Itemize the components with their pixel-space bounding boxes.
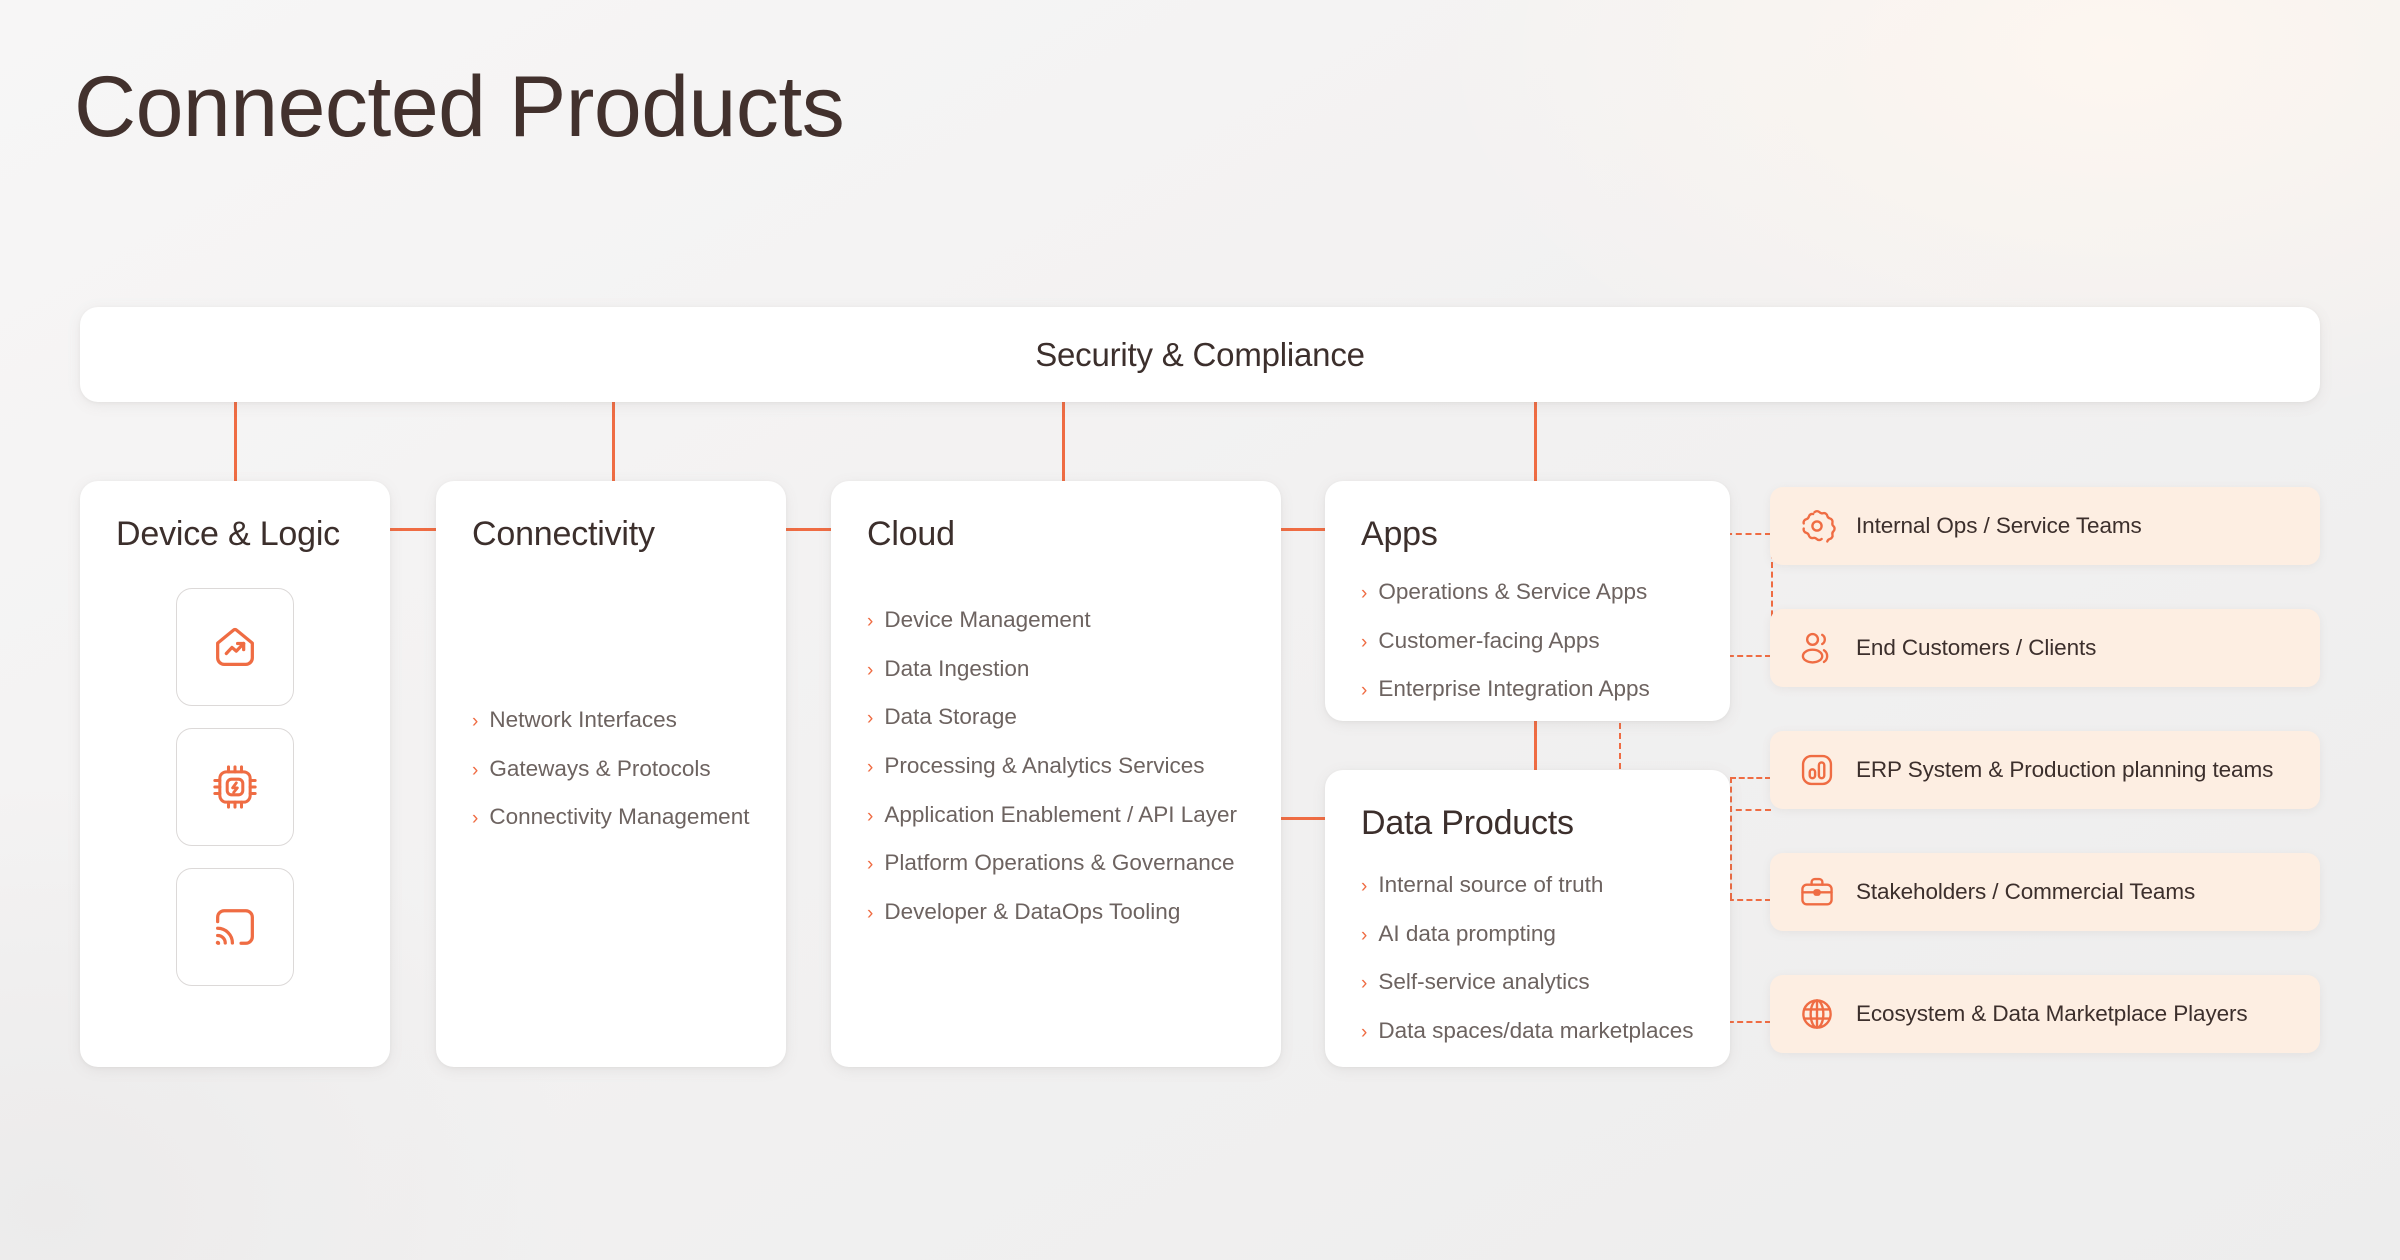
chevron-right-icon: ›: [472, 712, 478, 731]
globe-icon: [1798, 995, 1836, 1033]
list-item[interactable]: › Platform Operations & Governance: [867, 847, 1245, 880]
device-tile-chip-bolt[interactable]: [176, 728, 294, 846]
bar-chart-icon: [1798, 751, 1836, 789]
chevron-right-icon: ›: [1361, 584, 1367, 603]
stakeholder-card-erp-system[interactable]: ERP System & Production planning teams: [1770, 731, 2320, 809]
list-item[interactable]: › Application Enablement / API Layer: [867, 799, 1245, 832]
list-item-label: Data spaces/data marketplaces: [1378, 1015, 1693, 1048]
list-item[interactable]: › Data Ingestion: [867, 653, 1245, 686]
cloud-item-list: › Device Management › Data Ingestion › D…: [867, 604, 1245, 928]
list-item[interactable]: › Data spaces/data marketplaces: [1361, 1015, 1694, 1048]
stakeholder-label: Internal Ops / Service Teams: [1856, 513, 2142, 539]
connector-security-to-device: [234, 402, 237, 481]
chevron-right-icon: ›: [867, 661, 873, 680]
list-item-label: Enterprise Integration Apps: [1378, 673, 1649, 706]
connector-security-to-cloud: [1062, 402, 1065, 481]
dotted-branch-erp: [1730, 777, 1732, 899]
connector-cloud-to-data-products: [1281, 817, 1325, 820]
chevron-right-icon: ›: [867, 807, 873, 826]
chevron-right-icon: ›: [472, 761, 478, 780]
list-item[interactable]: › Developer & DataOps Tooling: [867, 896, 1245, 929]
list-item-label: Internal source of truth: [1378, 869, 1603, 902]
list-item[interactable]: › Enterprise Integration Apps: [1361, 673, 1694, 706]
chevron-right-icon: ›: [1361, 1023, 1367, 1042]
list-item-label: Operations & Service Apps: [1378, 576, 1647, 609]
list-item-label: Gateways & Protocols: [489, 753, 710, 786]
list-item-label: Network Interfaces: [489, 704, 677, 737]
chevron-right-icon: ›: [867, 709, 873, 728]
list-item-label: AI data prompting: [1378, 918, 1556, 951]
device-icon-stack: [116, 588, 354, 986]
cast-signal-icon: [209, 901, 261, 953]
list-item-label: Self-service analytics: [1378, 966, 1589, 999]
connector-device-to-connectivity: [390, 528, 436, 531]
list-item-label: Developer & DataOps Tooling: [884, 896, 1180, 929]
list-item[interactable]: › Network Interfaces: [472, 704, 750, 737]
stakeholder-label: ERP System & Production planning teams: [1856, 757, 2273, 783]
security-compliance-bar[interactable]: Security & Compliance: [80, 307, 2320, 402]
security-compliance-label: Security & Compliance: [1035, 336, 1365, 374]
card-apps[interactable]: Apps › Operations & Service Apps › Custo…: [1325, 481, 1730, 721]
briefcase-icon: [1798, 873, 1836, 911]
list-item-label: Processing & Analytics Services: [884, 750, 1204, 783]
dotted-connector-erp: [1730, 777, 1771, 779]
chevron-right-icon: ›: [472, 809, 478, 828]
list-item-label: Platform Operations & Governance: [884, 847, 1234, 880]
chevron-right-icon: ›: [1361, 974, 1367, 993]
list-item[interactable]: › Processing & Analytics Services: [867, 750, 1245, 783]
stakeholder-label: Ecosystem & Data Marketplace Players: [1856, 1001, 2248, 1027]
connector-connectivity-to-cloud: [786, 528, 831, 531]
gear-icon: [1798, 507, 1836, 545]
stakeholder-card-internal-ops[interactable]: Internal Ops / Service Teams: [1770, 487, 2320, 565]
chevron-right-icon: ›: [867, 855, 873, 874]
card-data-products[interactable]: Data Products › Internal source of truth…: [1325, 770, 1730, 1067]
stakeholder-label: End Customers / Clients: [1856, 635, 2096, 661]
diagram-canvas: Connected Products Security & Compliance…: [0, 0, 2400, 1260]
chevron-right-icon: ›: [867, 758, 873, 777]
list-item-label: Customer-facing Apps: [1378, 625, 1599, 658]
list-item-label: Data Ingestion: [884, 653, 1029, 686]
list-item[interactable]: › Connectivity Management: [472, 801, 750, 834]
card-device-and-logic[interactable]: Device & Logic: [80, 481, 390, 1067]
chevron-right-icon: ›: [867, 904, 873, 923]
card-title-device-and-logic: Device & Logic: [116, 515, 354, 554]
list-item[interactable]: › AI data prompting: [1361, 918, 1694, 951]
connector-security-to-apps: [1534, 402, 1537, 481]
list-item-label: Device Management: [884, 604, 1090, 637]
stakeholder-card-end-customers[interactable]: End Customers / Clients: [1770, 609, 2320, 687]
card-title-connectivity: Connectivity: [472, 515, 750, 554]
card-title-data-products: Data Products: [1361, 804, 1694, 843]
chevron-right-icon: ›: [1361, 681, 1367, 700]
chevron-right-icon: ›: [867, 612, 873, 631]
device-tile-cast-signal[interactable]: [176, 868, 294, 986]
card-connectivity[interactable]: Connectivity › Network Interfaces › Gate…: [436, 481, 786, 1067]
chevron-right-icon: ›: [1361, 877, 1367, 896]
list-item-label: Connectivity Management: [489, 801, 749, 834]
list-item[interactable]: › Self-service analytics: [1361, 966, 1694, 999]
list-item-label: Data Storage: [884, 701, 1017, 734]
card-title-cloud: Cloud: [867, 515, 1245, 554]
card-title-apps: Apps: [1361, 515, 1694, 554]
chevron-right-icon: ›: [1361, 926, 1367, 945]
stakeholder-card-ecosystem[interactable]: Ecosystem & Data Marketplace Players: [1770, 975, 2320, 1053]
page-title: Connected Products: [74, 62, 844, 152]
connectivity-item-list: › Network Interfaces › Gateways & Protoc…: [472, 704, 750, 834]
list-item[interactable]: › Data Storage: [867, 701, 1245, 734]
apps-item-list: › Operations & Service Apps › Customer-f…: [1361, 576, 1694, 706]
data-products-item-list: › Internal source of truth › AI data pro…: [1361, 869, 1694, 1048]
connector-cloud-to-apps: [1281, 528, 1325, 531]
chevron-right-icon: ›: [1361, 633, 1367, 652]
connector-apps-to-data-products: [1534, 721, 1537, 770]
list-item[interactable]: › Device Management: [867, 604, 1245, 637]
stakeholder-label: Stakeholders / Commercial Teams: [1856, 879, 2195, 905]
list-item[interactable]: › Customer-facing Apps: [1361, 625, 1694, 658]
home-trend-icon: [209, 621, 261, 673]
list-item[interactable]: › Gateways & Protocols: [472, 753, 750, 786]
users-icon: [1798, 629, 1836, 667]
chip-bolt-icon: [209, 761, 261, 813]
connector-security-to-connectivity: [612, 402, 615, 481]
list-item[interactable]: › Operations & Service Apps: [1361, 576, 1694, 609]
list-item[interactable]: › Internal source of truth: [1361, 869, 1694, 902]
list-item-label: Application Enablement / API Layer: [884, 799, 1237, 832]
stakeholder-card-stakeholders[interactable]: Stakeholders / Commercial Teams: [1770, 853, 2320, 931]
device-tile-home-trend[interactable]: [176, 588, 294, 706]
card-cloud[interactable]: Cloud › Device Management › Data Ingesti…: [831, 481, 1281, 1067]
